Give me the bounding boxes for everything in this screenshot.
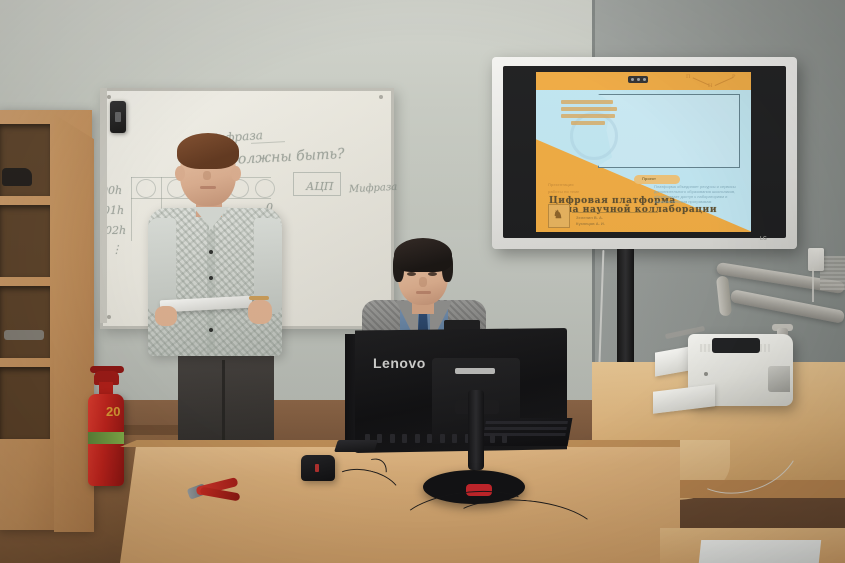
outlet-wire [812, 268, 814, 302]
display-screen[interactable]: П Н Р Проект Презентация работы по теме … [536, 72, 751, 232]
badge-line [561, 107, 617, 111]
badge-line [561, 114, 615, 118]
slide-badge-block [561, 100, 619, 140]
slide-formula-diagram: П Н Р [686, 74, 746, 88]
printer-front-recess [768, 366, 790, 392]
shelf-cubby [0, 286, 50, 358]
whiteboard-right-note: Мифраза [349, 182, 398, 196]
slide-content-panel [598, 94, 740, 168]
slide-button [634, 175, 680, 184]
webcam-lens-icon [631, 78, 634, 81]
eye [407, 272, 416, 276]
slide-button-label: Проект [642, 176, 656, 181]
vent-slot [377, 434, 382, 443]
mouth [416, 291, 431, 294]
formula-bond [715, 77, 734, 86]
shirt-placket [207, 222, 215, 352]
whiteboard-screw [107, 315, 111, 319]
whiteboard-address-row: 02h [105, 224, 126, 237]
whiteboard-oval [255, 179, 275, 198]
printer-output-slot [712, 338, 760, 353]
vent-slot [490, 434, 495, 443]
crest-glyph: ♞ [553, 208, 563, 221]
keyboard-row [485, 421, 568, 424]
formula-atom-label: П [686, 74, 690, 80]
badge-line [561, 100, 613, 104]
hand-left [155, 306, 177, 326]
standing-presenter-hair [177, 133, 239, 169]
slide-divider [572, 212, 658, 213]
nose [203, 171, 211, 180]
shelf-object [2, 168, 32, 186]
ear-left [175, 166, 185, 181]
whiteboard-screw [379, 95, 383, 99]
speaker-led-icon [315, 464, 319, 472]
sensor-indicator-icon [115, 112, 121, 122]
shelf-object [4, 330, 44, 340]
vent-slot [390, 434, 395, 443]
monitor-brand-logo: Lenovo [373, 355, 426, 371]
seated-presenter-hair [394, 238, 452, 272]
laptop-edge [334, 440, 378, 452]
monitor-stand-icon [468, 390, 484, 470]
slide-author: Зеленин В. А. [576, 215, 603, 220]
shirt-button [209, 328, 213, 332]
slide-subtitle-2: работы по теме [548, 189, 579, 194]
webcam-lens-icon [637, 78, 640, 81]
whiteboard-note-box [293, 172, 341, 196]
fire-extinguisher-number: 20 [106, 404, 132, 419]
vent-slot [440, 434, 445, 443]
shelf-cubby [0, 367, 50, 439]
vent-slot [502, 434, 507, 443]
slide-author: Кузнецов А. И. [576, 221, 605, 226]
fire-extinguisher-label-band [88, 432, 124, 444]
shelf-cubby [0, 205, 50, 277]
classroom-photo: 20 Мифраза должны быть? 00h 01h 02h ⋮ 0 … [0, 0, 845, 563]
vent-slot [427, 434, 432, 443]
vent-slot [402, 434, 407, 443]
whiteboard-underline [251, 141, 285, 144]
webcam-icon [628, 76, 648, 83]
slide-body-paragraph: Платформа объединяет ресурсы и сервисы д… [654, 184, 746, 204]
vent-slot [452, 434, 457, 443]
hand-right [248, 300, 272, 324]
monitor-rear-label [455, 368, 495, 374]
vent-slot [415, 434, 420, 443]
monitor-vent-grille [365, 430, 545, 444]
whiteboard-ellipsis: ⋮ [111, 243, 122, 256]
whiteboard-note-line2: должны быть? [229, 146, 345, 168]
whiteboard-grid-line [131, 177, 132, 241]
wall-outlet-icon [808, 248, 824, 271]
slide-subtitle-1: Презентация [548, 182, 574, 187]
webcam-lens-icon [643, 78, 646, 81]
mouth [200, 186, 216, 189]
eye [428, 272, 437, 276]
paper-sheet [699, 540, 821, 563]
nose [419, 277, 427, 287]
whiteboard-frame [100, 88, 107, 323]
whiteboard-oval [136, 179, 156, 198]
display-brand-logo: LG [760, 236, 767, 242]
printer-status-led-icon [704, 372, 708, 376]
whiteboard-screw [107, 95, 111, 99]
slide-crest-emblem: ♞ [548, 204, 570, 228]
formula-bond [693, 77, 710, 85]
badge-line [571, 121, 605, 125]
ear-right [231, 166, 241, 181]
slide-title-line-2: Дома научной коллаборации [549, 205, 717, 215]
shirt-button [209, 276, 213, 280]
shirt-button [209, 250, 213, 254]
